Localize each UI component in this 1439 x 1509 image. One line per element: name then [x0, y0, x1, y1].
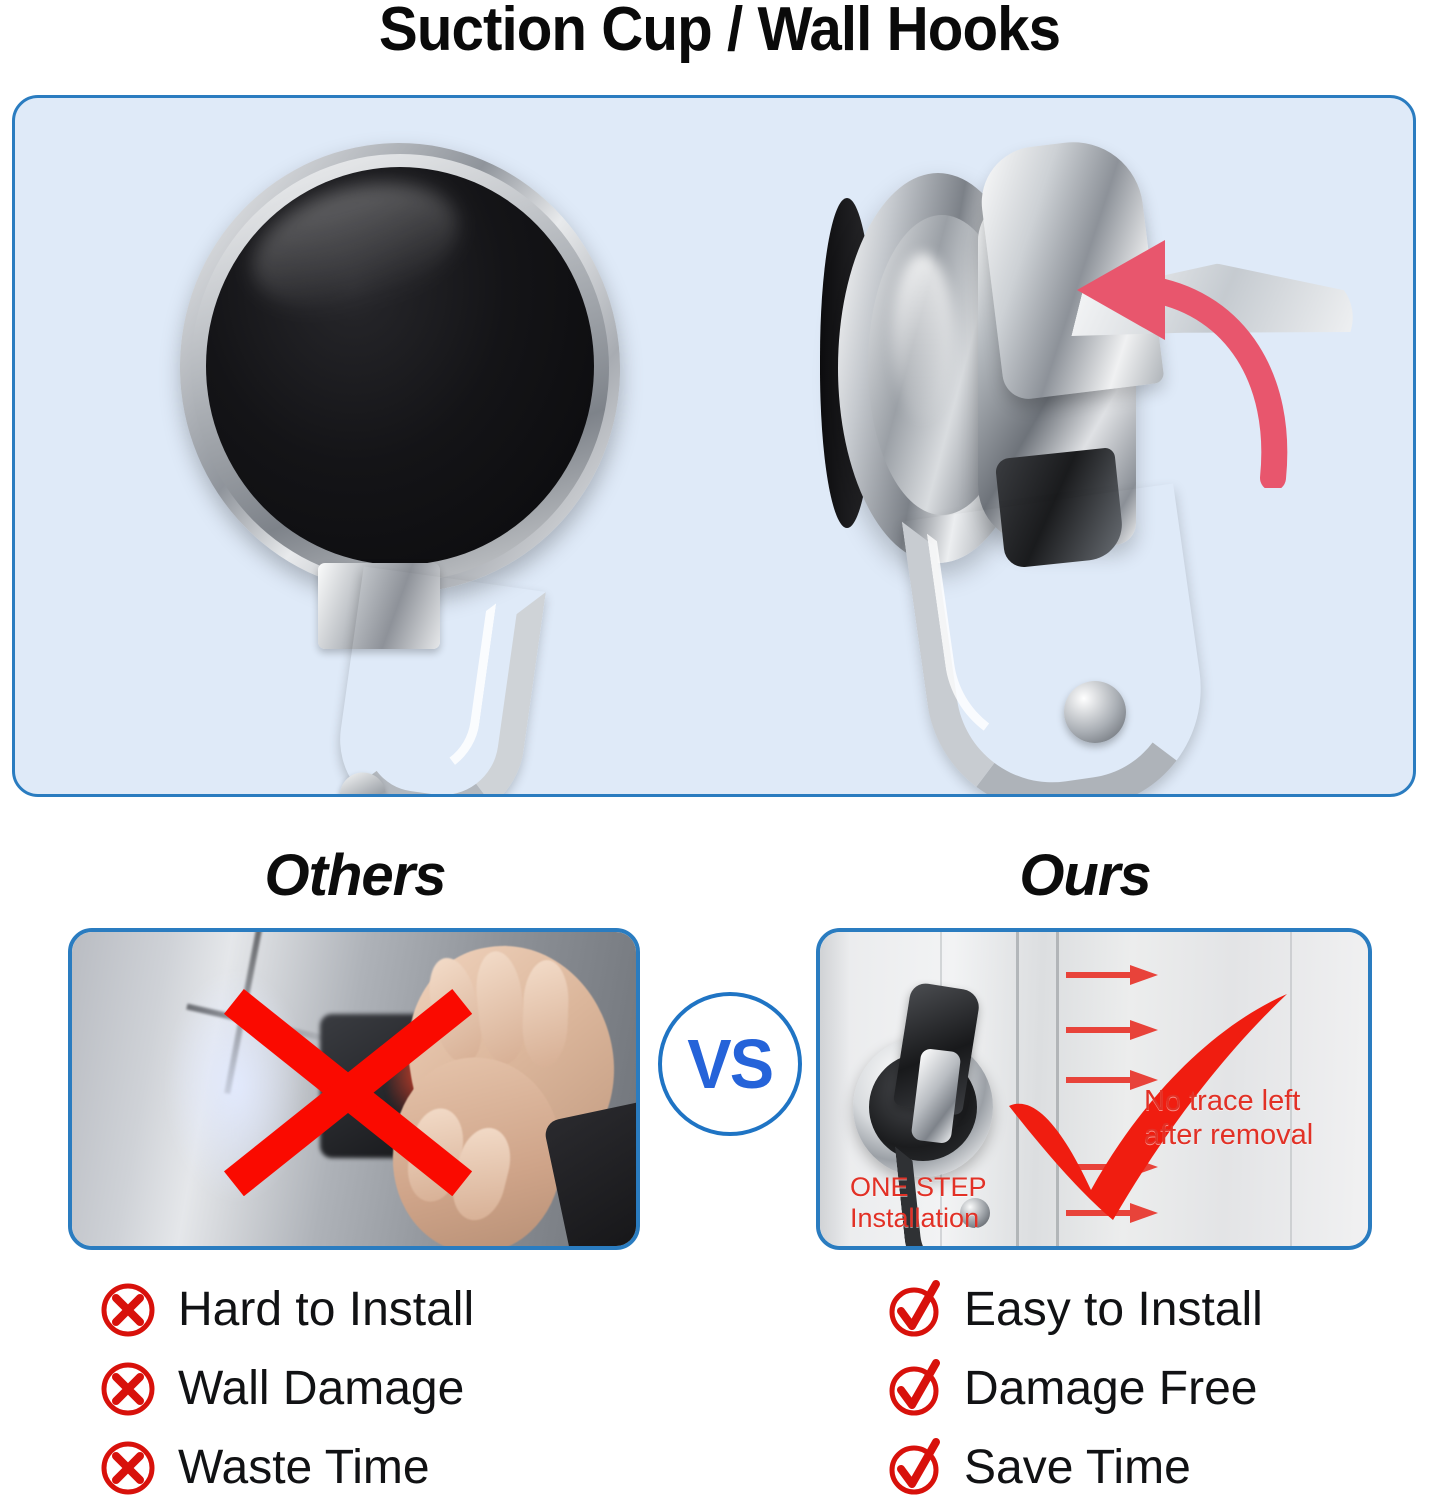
- circle-check-icon: [886, 1282, 942, 1338]
- circle-x-icon: [100, 1361, 156, 1417]
- others-photo-card: [68, 928, 640, 1250]
- page-title: Suction Cup / Wall Hooks: [43, 0, 1396, 62]
- feature-label: Waste Time: [178, 1442, 430, 1494]
- ours-note-no-trace: No trace left after removal: [1144, 1084, 1313, 1152]
- feature-label: Easy to Install: [964, 1284, 1263, 1336]
- others-heading: Others: [130, 846, 580, 906]
- ours-note-no-trace-line1: No trace left: [1144, 1084, 1313, 1118]
- feature-label: Wall Damage: [178, 1363, 464, 1415]
- list-item: Wall Damage: [100, 1351, 474, 1426]
- side-cup-highlight: [892, 253, 954, 423]
- circle-check-icon: [886, 1440, 942, 1496]
- hero-product-panel: [12, 95, 1416, 797]
- ours-note-one-step: ONE STEP Installation: [850, 1172, 987, 1234]
- ours-note-one-step-line2: Installation: [850, 1203, 987, 1234]
- vs-label: VS: [688, 1029, 773, 1099]
- ours-tile-shade: [820, 932, 850, 1246]
- list-item: Easy to Install: [886, 1272, 1263, 1347]
- suction-disc: [180, 143, 620, 593]
- ours-heading: Ours: [860, 846, 1310, 906]
- product-front-view: [110, 108, 670, 797]
- ours-photo-card: ONE STEP Installation No trace left afte…: [816, 928, 1372, 1250]
- circle-check-icon: [886, 1361, 942, 1417]
- feature-label: Hard to Install: [178, 1284, 474, 1336]
- feature-label: Save Time: [964, 1442, 1191, 1494]
- circle-x-icon: [100, 1440, 156, 1496]
- ours-note-no-trace-line2: after removal: [1144, 1118, 1313, 1152]
- list-item: Save Time: [886, 1430, 1263, 1505]
- vs-badge: VS: [658, 992, 802, 1136]
- list-item: Waste Time: [100, 1430, 474, 1505]
- list-item: Hard to Install: [100, 1272, 474, 1347]
- ours-note-one-step-line1: ONE STEP: [850, 1172, 987, 1203]
- feature-label: Damage Free: [964, 1363, 1257, 1415]
- others-feature-list: Hard to Install Wall Damage Waste Time: [100, 1272, 474, 1509]
- red-x-mark-icon: [224, 989, 472, 1196]
- side-hook-ball-tip: [1064, 681, 1126, 743]
- lever-motion-arrow-icon: [1015, 228, 1315, 488]
- list-item: Damage Free: [886, 1351, 1263, 1426]
- ours-feature-list: Easy to Install Damage Free Save Time: [886, 1272, 1263, 1509]
- circle-x-icon: [100, 1282, 156, 1338]
